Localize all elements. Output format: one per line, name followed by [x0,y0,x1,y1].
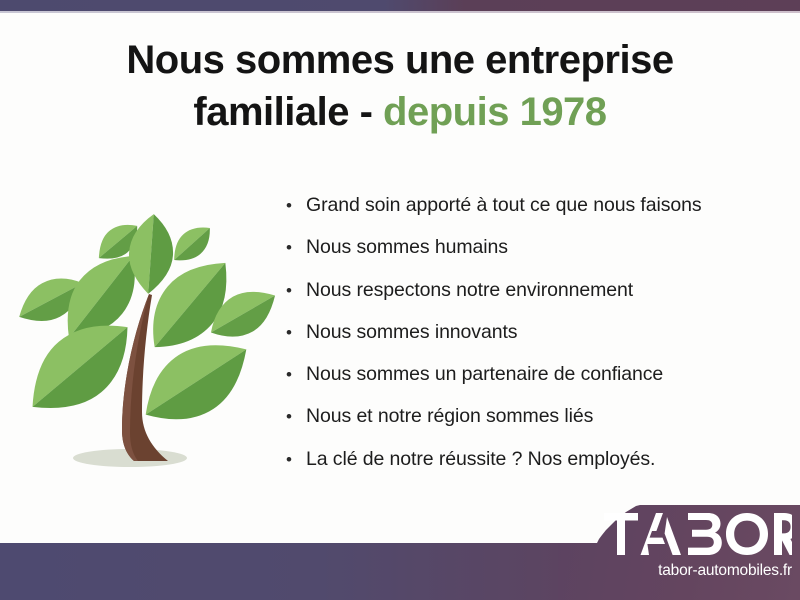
title-line-1: Nous sommes une entreprise [60,34,740,86]
top-accent-bar [0,0,800,11]
list-item-label: Nous et notre région sommes liés [306,405,593,428]
list-item-label: Nous respectons notre environnement [306,279,633,302]
list-item-label: Nous sommes un partenaire de confiance [306,363,663,386]
title-line-2-accent: depuis 1978 [383,90,607,134]
bullet-marker-icon: • [286,324,306,341]
list-item: • Grand soin apporté à tout ce que nous … [286,194,766,236]
title-line-2: familiale - depuis 1978 [60,86,740,138]
list-item-label: Grand soin apporté à tout ce que nous fa… [306,194,702,217]
list-item: • Nous sommes humains [286,236,766,278]
bullet-list: • Grand soin apporté à tout ce que nous … [286,194,766,490]
bullet-marker-icon: • [286,282,306,299]
list-item-label: Nous sommes humains [306,236,508,259]
logo-url-label: tabor-automobiles.fr [558,562,800,580]
list-item-label: La clé de notre réussite ? Nos employés. [306,448,655,471]
tree-illustration [18,182,284,492]
list-item: • Nous respectons notre environnement [286,279,766,321]
list-item: • Nous sommes innovants [286,321,766,363]
bullet-marker-icon: • [286,239,306,256]
bullet-marker-icon: • [286,366,306,383]
slide-canvas: Nous sommes une entreprise familiale - d… [0,0,800,600]
slide-title: Nous sommes une entreprise familiale - d… [60,34,740,138]
list-item-label: Nous sommes innovants [306,321,517,344]
bullet-marker-icon: • [286,451,306,468]
bullet-marker-icon: • [286,408,306,425]
list-item: • Nous et notre région sommes liés [286,405,766,447]
list-item: • La clé de notre réussite ? Nos employé… [286,448,766,490]
tabor-logo-wordmark [604,513,792,555]
bullet-marker-icon: • [286,197,306,214]
list-item: • Nous sommes un partenaire de confiance [286,363,766,405]
title-line-2-plain: familiale - [193,90,383,134]
top-accent-hairline [0,11,800,13]
